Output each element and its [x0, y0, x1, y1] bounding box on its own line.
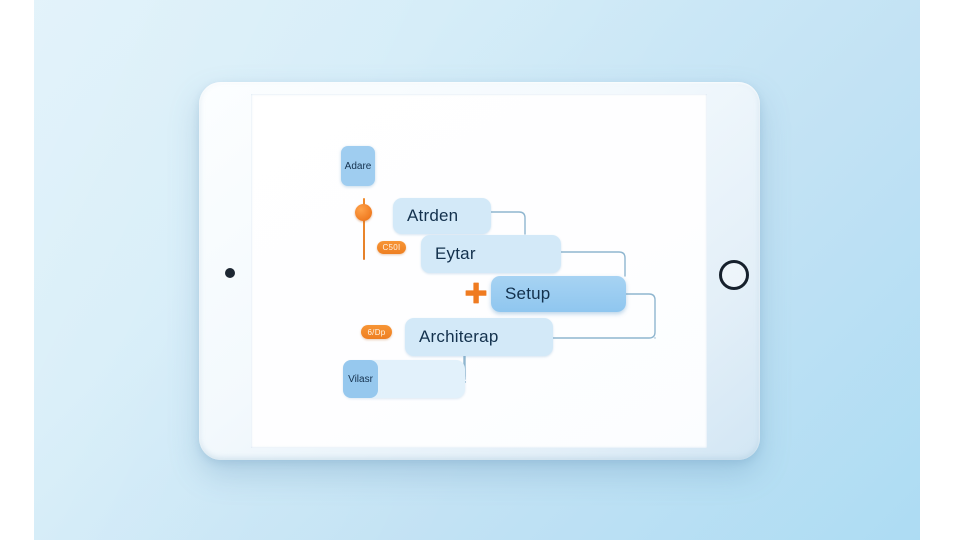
node-label: Architerap	[419, 327, 498, 347]
node-label: Atrden	[407, 206, 458, 226]
timeline-dot-icon[interactable]	[355, 204, 372, 221]
node-label: Vilasr	[348, 374, 373, 385]
badge-label: C50I	[382, 243, 400, 252]
node-atrden[interactable]: Atrden	[393, 198, 491, 234]
badge-c50i[interactable]: C50I	[377, 241, 406, 254]
node-architerap[interactable]: Architerap	[405, 318, 553, 356]
diagram-canvas[interactable]: Adare Atrden Eytar Setup	[251, 94, 707, 448]
tablet-screen[interactable]: Adare Atrden Eytar Setup	[251, 94, 707, 448]
screenshot-root: Adare Atrden Eytar Setup	[0, 0, 960, 540]
node-label: Adare	[345, 161, 372, 172]
node-vilasr-head[interactable]: Vilasr	[343, 360, 378, 398]
node-eytar[interactable]: Eytar	[421, 235, 561, 273]
node-chip-adare[interactable]: Adare	[341, 146, 375, 186]
camera-dot-icon	[225, 268, 235, 278]
tablet-device: Adare Atrden Eytar Setup	[199, 82, 760, 460]
node-label: Eytar	[435, 244, 476, 264]
badge-label: 6/Dp	[367, 328, 385, 337]
node-setup[interactable]: Setup	[491, 276, 626, 312]
home-ring-icon[interactable]	[719, 260, 749, 290]
badge-6dp[interactable]: 6/Dp	[361, 325, 392, 339]
plus-icon[interactable]	[463, 280, 489, 306]
node-label: Setup	[505, 284, 550, 304]
